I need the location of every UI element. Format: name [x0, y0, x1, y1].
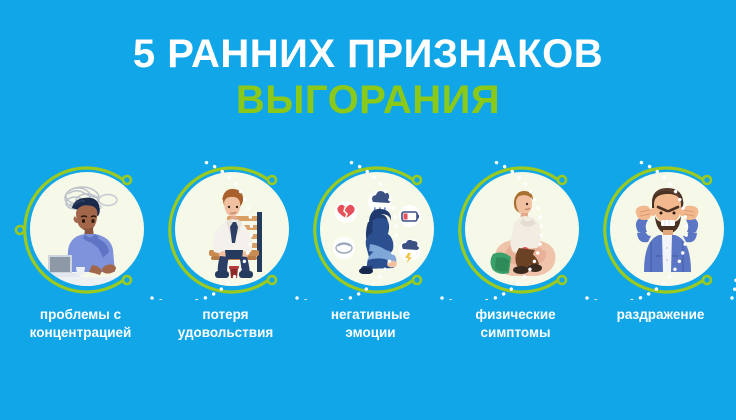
- step-label-5: раздражение: [588, 306, 733, 324]
- angry-man-clenched-fists-icon: [610, 172, 724, 286]
- man-slumped-on-bench-icon: [175, 172, 289, 286]
- step-illustration-4: [465, 172, 579, 286]
- step-item-5: [588, 160, 733, 300]
- steps-labels-row: проблемы с концентрацией потеря удовольс…: [0, 306, 736, 366]
- step-label-5-line-1: раздражение: [588, 306, 733, 324]
- step-label-2-line-1: потеря: [153, 306, 298, 324]
- step-label-1: проблемы с концентрацией: [8, 306, 153, 342]
- step-item-2: [153, 160, 298, 300]
- step-label-4-line-1: физические: [443, 306, 588, 324]
- step-label-2: потеря удовольствия: [153, 306, 298, 342]
- step-label-3: негативные эмоции: [298, 306, 443, 342]
- title-line-1: 5 РАННИХ ПРИЗНАКОВ: [0, 34, 736, 74]
- step-illustration-5: [610, 172, 724, 286]
- step-item-3: [298, 160, 443, 300]
- step-label-3-line-2: эмоции: [298, 324, 443, 342]
- step-label-4-line-2: симптомы: [443, 324, 588, 342]
- person-at-laptop-confused-icon: [30, 172, 144, 286]
- step-label-1-line-2: концентрацией: [8, 324, 153, 342]
- step-illustration-1: [30, 172, 144, 286]
- burnout-infographic: 5 РАННИХ ПРИЗНАКОВ ВЫГОРАНИЯ: [0, 0, 736, 420]
- step-item-1: [8, 160, 153, 300]
- person-curled-up-with-thought-bubbles-icon: [320, 172, 434, 286]
- steps-row: [0, 160, 736, 300]
- step-illustration-3: [320, 172, 434, 286]
- title-line-2: ВЫГОРАНИЯ: [0, 80, 736, 120]
- page-title: 5 РАННИХ ПРИЗНАКОВ ВЫГОРАНИЯ: [0, 34, 736, 120]
- step-label-1-line-1: проблемы с: [8, 306, 153, 324]
- step-label-3-line-1: негативные: [298, 306, 443, 324]
- step-label-2-line-2: удовольствия: [153, 324, 298, 342]
- step-label-4: физические симптомы: [443, 306, 588, 342]
- step-illustration-2: [175, 172, 289, 286]
- step-item-4: [443, 160, 588, 300]
- person-on-beanbag-stomach-pain-icon: [465, 172, 579, 286]
